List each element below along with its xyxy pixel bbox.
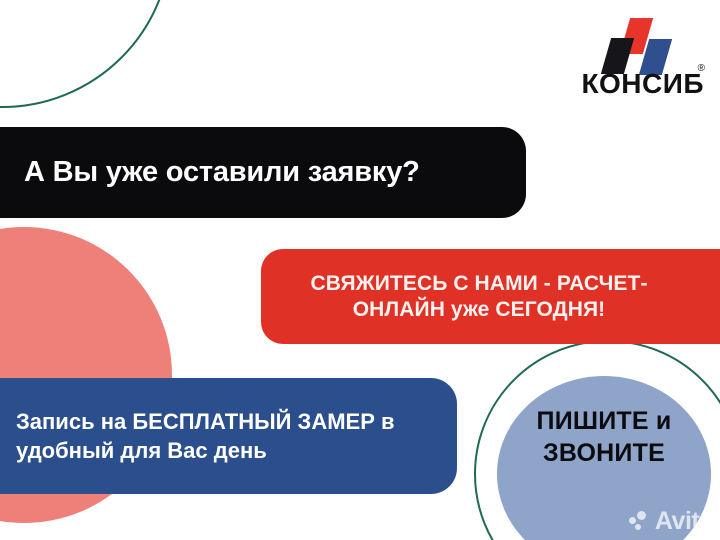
green-ring-decoration-top xyxy=(0,0,172,108)
measurement-text: Запись на БЕСПЛАТНЫЙ ЗАМЕР в удобный для… xyxy=(0,407,457,465)
registered-trademark-symbol: ® xyxy=(698,64,705,74)
avito-watermark-text: Avito xyxy=(655,509,714,534)
headline-text: А Вы уже оставили заявку? xyxy=(0,156,420,189)
headline-block: А Вы уже оставили заявку? xyxy=(0,127,526,218)
logo-mark-icon xyxy=(600,18,670,72)
avito-watermark: Avito xyxy=(629,509,714,534)
call-to-action-text: ПИШИТЕ и ЗВОНИТЕ xyxy=(497,405,711,469)
contact-block: СВЯЖИТЕСЬ С НАМИ - РАСЧЕТ-ОНЛАЙН уже СЕГ… xyxy=(261,249,720,344)
promo-banner: КОНСИБ ® А Вы уже оставили заявку? СВЯЖИ… xyxy=(0,0,720,540)
contact-text: СВЯЖИТЕСЬ С НАМИ - РАСЧЕТ-ОНЛАЙН уже СЕГ… xyxy=(261,271,681,322)
avito-dots-icon xyxy=(629,511,651,533)
measurement-block: Запись на БЕСПЛАТНЫЙ ЗАМЕР в удобный для… xyxy=(0,378,457,494)
company-logo: КОНСИБ ® xyxy=(568,18,704,98)
logo-wordmark: КОНСИБ xyxy=(581,70,704,98)
